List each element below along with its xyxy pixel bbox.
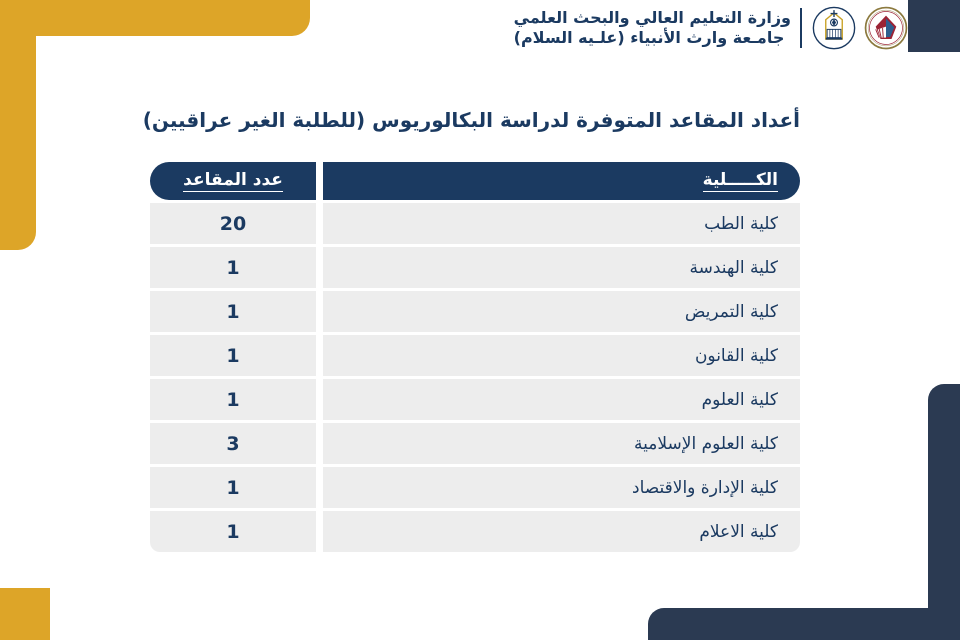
table-cell-college: كلية القانون — [323, 335, 800, 376]
column-header-college-label: الكـــــلية — [703, 170, 778, 192]
seats-column: عدد المقاعد 20 1 1 1 1 3 1 1 — [150, 162, 316, 552]
college-column: الكـــــلية كلية الطب كلية الهندسة كلية … — [323, 162, 800, 552]
navy-square-top-right — [908, 0, 960, 52]
poster-canvas: وزارة التعليم العالي والبحث العلمي جامـع… — [0, 0, 960, 640]
table-cell-seats: 1 — [150, 247, 316, 288]
table-cell-college: كلية الهندسة — [323, 247, 800, 288]
table-cell-seats: 1 — [150, 379, 316, 420]
gold-corner-bracket-top-left — [0, 0, 310, 36]
gold-corner-bracket-top-left-stem — [0, 0, 36, 250]
column-header-college: الكـــــلية — [323, 162, 800, 200]
table-cell-seats: 1 — [150, 335, 316, 376]
header-institution-text: وزارة التعليم العالي والبحث العلمي جامـع… — [514, 8, 802, 49]
navy-corner-bracket-bottom-right-stem — [928, 384, 960, 640]
table-cell-college: كلية الاعلام — [323, 511, 800, 552]
table-cell-college: كلية العلوم الإسلامية — [323, 423, 800, 464]
ministry-emblem-logo — [812, 6, 856, 50]
table-cell-college: كلية التمريض — [323, 291, 800, 332]
table-cell-seats: 20 — [150, 203, 316, 244]
table-cell-seats: 1 — [150, 467, 316, 508]
gold-square-bottom-left — [0, 588, 50, 640]
page-title: أعداد المقاعد المتوفرة لدراسة البكالوريو… — [150, 108, 800, 132]
table-cell-college: كلية الطب — [323, 203, 800, 244]
navy-corner-bracket-bottom-right — [648, 608, 960, 640]
ministry-name: وزارة التعليم العالي والبحث العلمي — [514, 8, 791, 28]
university-emblem-logo — [864, 6, 908, 50]
university-name: جامـعة وارث الأنبياء (علـيه السلام) — [514, 28, 785, 48]
table-cell-college: كلية العلوم — [323, 379, 800, 420]
table-cell-seats: 1 — [150, 511, 316, 552]
table-cell-seats: 1 — [150, 291, 316, 332]
column-header-seats-label: عدد المقاعد — [183, 170, 283, 192]
table-cell-seats: 3 — [150, 423, 316, 464]
column-header-seats: عدد المقاعد — [150, 162, 316, 200]
seats-table: الكـــــلية كلية الطب كلية الهندسة كلية … — [150, 162, 800, 552]
page-header: وزارة التعليم العالي والبحث العلمي جامـع… — [514, 6, 908, 50]
table-cell-college: كلية الإدارة والاقتصاد — [323, 467, 800, 508]
